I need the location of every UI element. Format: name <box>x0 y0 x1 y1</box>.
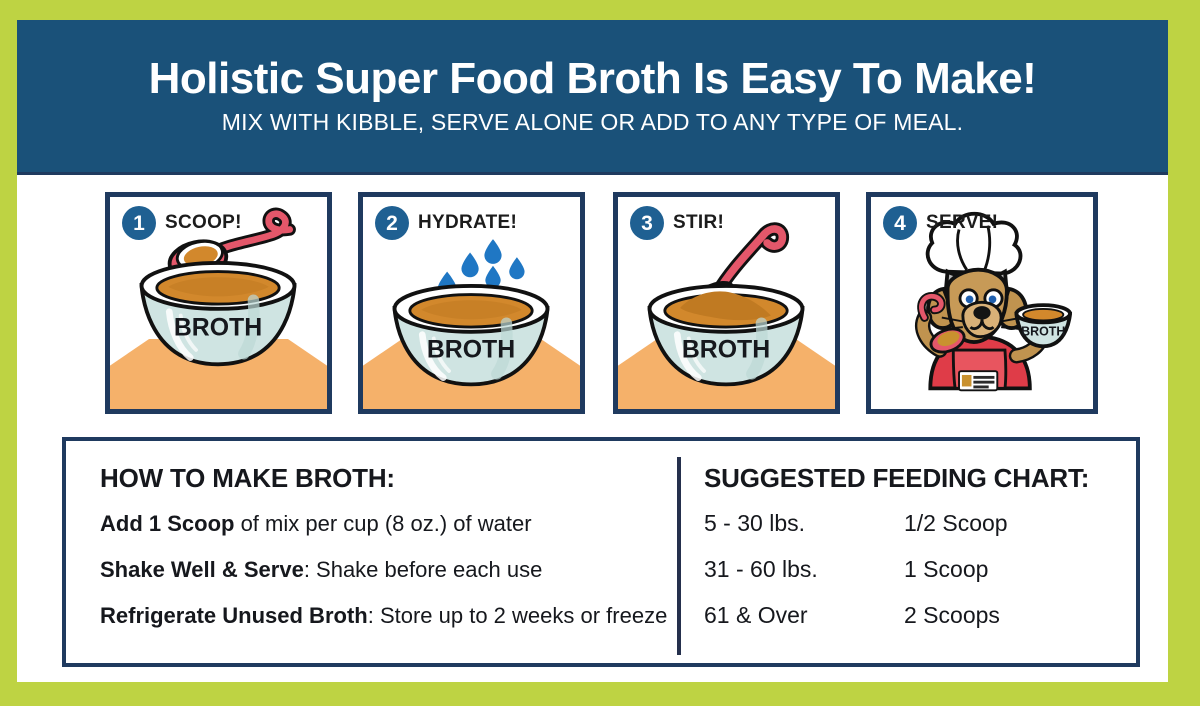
how-to-line-3-bold: Refrigerate Unused Broth <box>100 603 368 628</box>
how-to-line-2: Shake Well & Serve: Shake before each us… <box>100 556 670 584</box>
info-box: HOW TO MAKE BROTH: Add 1 Scoop of mix pe… <box>62 437 1140 667</box>
how-to-line-1-rest: of mix per cup (8 oz.) of water <box>234 511 531 536</box>
feeding-chart-row: 31 - 60 lbs. 1 Scoop <box>704 556 1124 583</box>
step-card-serve: BROTH 4 SERVE! <box>866 192 1098 414</box>
feeding-chart-heading: SUGGESTED FEEDING CHART: <box>704 463 1124 494</box>
how-to-heading: HOW TO MAKE BROTH: <box>100 463 670 494</box>
frame-border-left <box>0 0 17 706</box>
feeding-weight: 61 & Over <box>704 602 904 629</box>
header-banner: Holistic Super Food Broth Is Easy To Mak… <box>17 20 1168 175</box>
page-title: Holistic Super Food Broth Is Easy To Mak… <box>149 56 1037 102</box>
steps-row: BROTH 1 SCOOP! <box>105 192 1085 414</box>
feeding-amount: 2 Scoops <box>904 602 1000 629</box>
step-header-3: 3 STIR! <box>630 206 724 240</box>
how-to-line-3: Refrigerate Unused Broth: Store up to 2 … <box>100 602 670 630</box>
feeding-weight: 31 - 60 lbs. <box>704 556 904 583</box>
step-label: HYDRATE! <box>418 212 517 234</box>
how-to-line-1: Add 1 Scoop of mix per cup (8 oz.) of wa… <box>100 510 670 538</box>
how-to-line-3-rest: : Store up to 2 weeks or freeze <box>368 603 668 628</box>
step-number-badge: 3 <box>630 206 664 240</box>
how-to-make-section: HOW TO MAKE BROTH: Add 1 Scoop of mix pe… <box>100 463 670 630</box>
step-header-2: 2 HYDRATE! <box>375 206 517 240</box>
how-to-line-2-rest: : Shake before each use <box>304 557 543 582</box>
step-header-1: 1 SCOOP! <box>122 206 242 240</box>
step-card-stir: BROTH 3 STIR! <box>613 192 840 414</box>
step-card-scoop: BROTH 1 SCOOP! <box>105 192 332 414</box>
info-divider <box>677 457 681 655</box>
frame-border-right <box>1168 0 1200 706</box>
step-card-hydrate: BROTH 2 HYDRATE! <box>358 192 585 414</box>
how-to-line-1-bold: Add 1 Scoop <box>100 511 234 536</box>
feeding-chart-row: 61 & Over 2 Scoops <box>704 602 1124 629</box>
step-label: SERVE! <box>926 212 998 234</box>
step-label: STIR! <box>673 212 724 234</box>
broth-instructions-poster: Holistic Super Food Broth Is Easy To Mak… <box>0 0 1200 706</box>
frame-border-top <box>0 0 1200 20</box>
bowl-label: BROTH <box>174 315 262 342</box>
frame-border-bottom <box>0 682 1200 706</box>
step-number-badge: 4 <box>883 206 917 240</box>
feeding-amount: 1 Scoop <box>904 556 988 583</box>
step-number-badge: 1 <box>122 206 156 240</box>
feeding-amount: 1/2 Scoop <box>904 510 1008 537</box>
how-to-line-2-bold: Shake Well & Serve <box>100 557 304 582</box>
step-number-badge: 2 <box>375 206 409 240</box>
feeding-weight: 5 - 30 lbs. <box>704 510 904 537</box>
bowl-label: BROTH <box>427 337 515 364</box>
step-header-4: 4 SERVE! <box>883 206 998 240</box>
page-subtitle: MIX WITH KIBBLE, SERVE ALONE OR ADD TO A… <box>222 109 963 136</box>
step-label: SCOOP! <box>165 212 242 234</box>
feeding-chart-section: SUGGESTED FEEDING CHART: 5 - 30 lbs. 1/2… <box>704 463 1124 648</box>
bowl-label: BROTH <box>1021 325 1065 339</box>
feeding-chart-row: 5 - 30 lbs. 1/2 Scoop <box>704 510 1124 537</box>
bowl-label: BROTH <box>682 337 770 364</box>
